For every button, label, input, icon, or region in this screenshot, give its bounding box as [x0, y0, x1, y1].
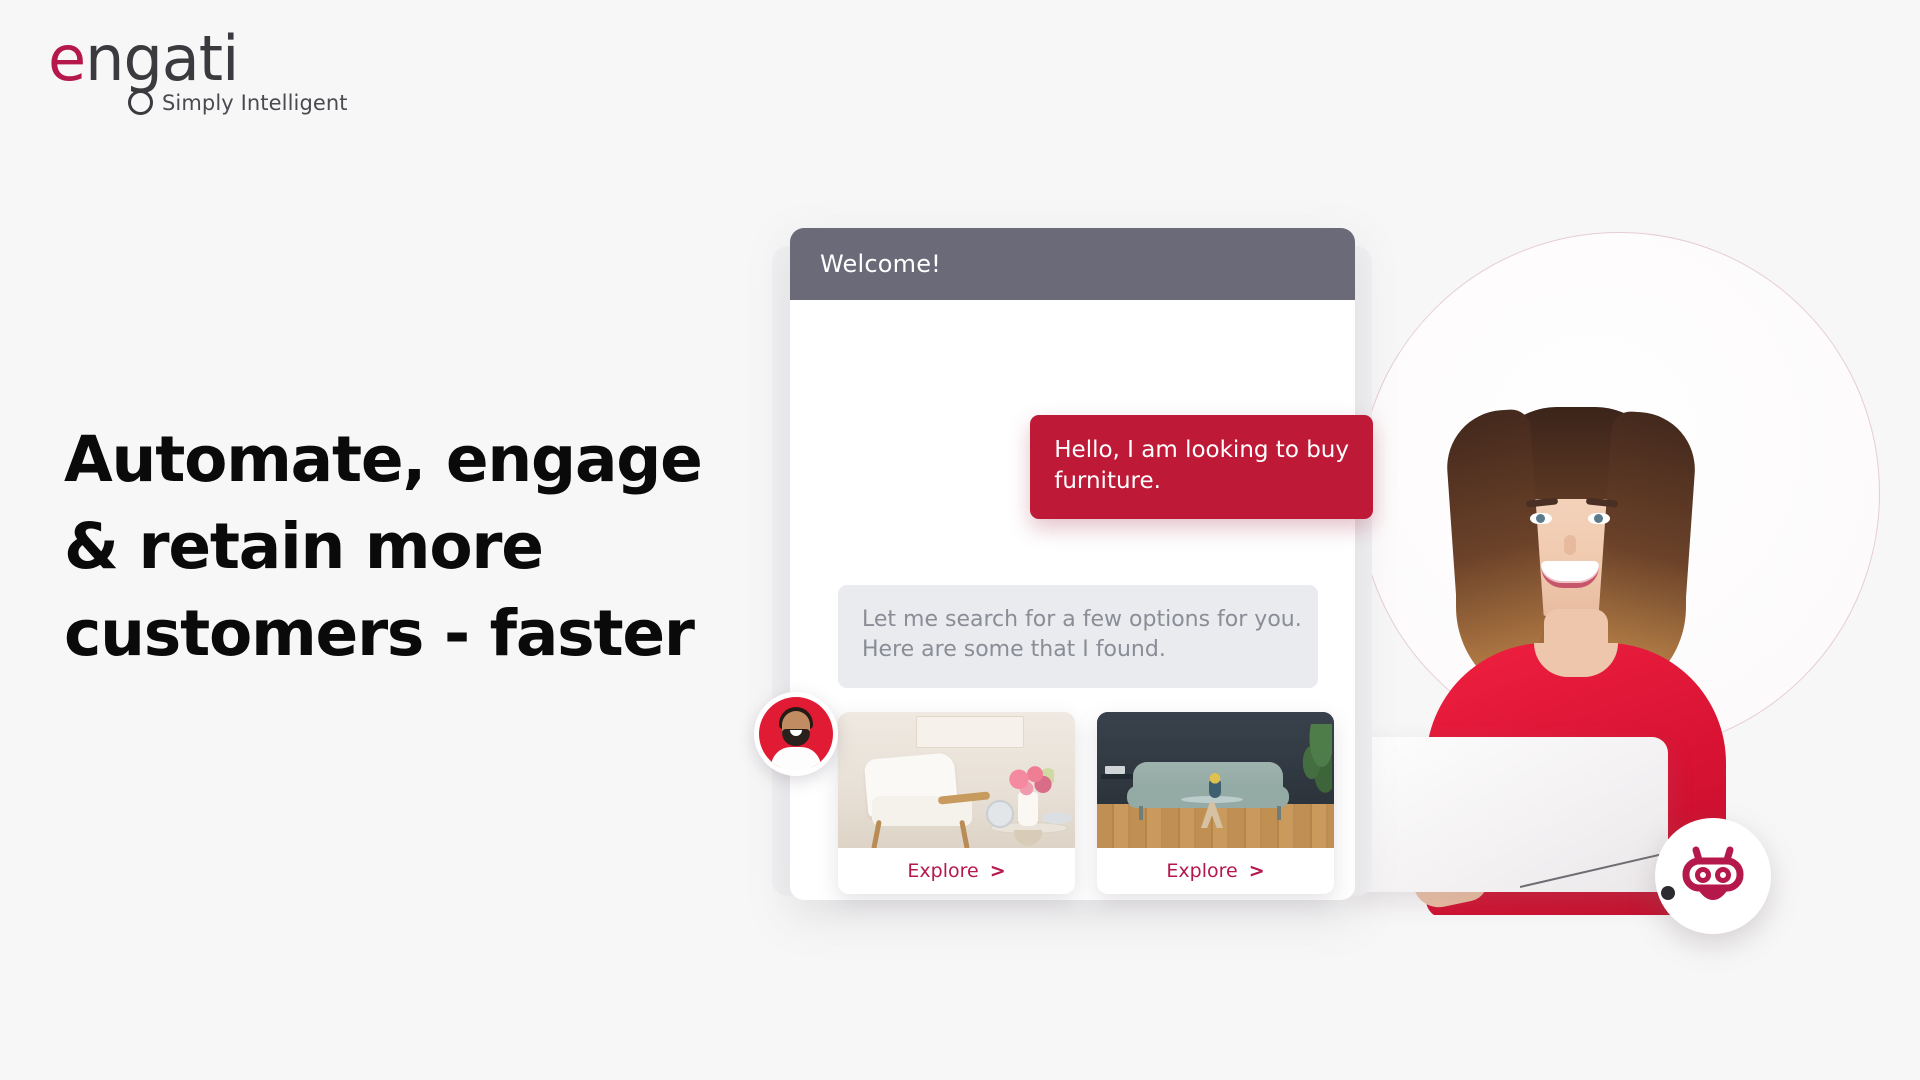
explore-label: Explore: [1166, 860, 1237, 882]
product-card[interactable]: Explore >: [1097, 712, 1334, 894]
chat-widget: Welcome! Hello, I am looking to buy furn…: [790, 228, 1355, 900]
hair-left: [1443, 408, 1546, 663]
logo-e-mark: e: [48, 22, 85, 95]
message-bubble-user: Hello, I am looking to buy furniture.: [1030, 415, 1373, 519]
message-line: Hello, I am looking to buy: [1054, 435, 1349, 466]
page-title: Automate, engage & retain more customers…: [64, 417, 764, 678]
eye-left: [1530, 513, 1552, 524]
chat-message-list: Hello, I am looking to buy furniture. Le…: [790, 300, 1355, 900]
logo-tagline: Simply Intelligent: [162, 91, 348, 115]
chevron-right-icon: >: [1249, 860, 1265, 882]
chatbot-launcher-button[interactable]: [1655, 818, 1771, 934]
eye-right: [1588, 513, 1610, 524]
nose: [1564, 535, 1576, 555]
product-image-armchair: [838, 712, 1075, 848]
robot-icon: [1677, 845, 1749, 907]
product-image-sofa: [1097, 712, 1334, 848]
brand-logo[interactable]: engati Simply Intelligent: [48, 28, 378, 120]
message-line: Let me search for a few options for you.: [862, 605, 1292, 635]
chevron-right-icon: >: [990, 860, 1006, 882]
headline-line-1: Automate, engage: [64, 417, 764, 504]
explore-label: Explore: [907, 860, 978, 882]
explore-button[interactable]: Explore >: [1097, 848, 1334, 894]
logo-tagline-row: Simply Intelligent: [128, 90, 348, 115]
chat-header-title: Welcome!: [820, 250, 941, 278]
product-card[interactable]: Explore >: [838, 712, 1075, 894]
circle-icon: [128, 90, 153, 115]
avatar-image: [759, 697, 833, 771]
message-line: Here are some that I found.: [862, 635, 1292, 665]
chat-header: Welcome!: [790, 228, 1355, 300]
headline-line-2: & retain more: [64, 504, 764, 591]
white-laptop: [1348, 737, 1668, 892]
message-line: furniture.: [1054, 466, 1349, 497]
headline-line-3: customers - faster: [64, 591, 764, 678]
orbit-dot: [1661, 886, 1675, 900]
avatar-shirt: [771, 747, 821, 771]
logo-wordmark: engati: [48, 28, 238, 90]
explore-button[interactable]: Explore >: [838, 848, 1075, 894]
message-bubble-bot: Let me search for a few options for you.…: [838, 585, 1318, 688]
logo-wordmark-rest: ngati: [85, 22, 238, 95]
avatar: [754, 692, 838, 776]
product-card-carousel: Explore >: [838, 712, 1334, 894]
